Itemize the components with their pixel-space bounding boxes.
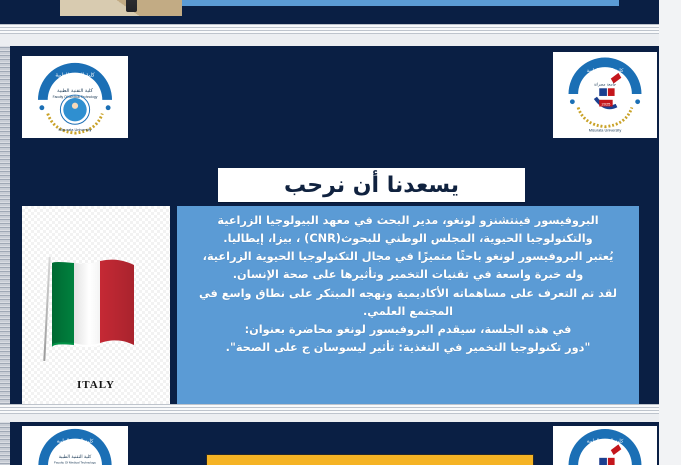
slide-left-edge-shadow — [0, 46, 10, 404]
slide-main[interactable]: كلية التقنية الطبية كلية التقنية الطبية … — [0, 46, 681, 404]
flag-graphic — [40, 249, 152, 365]
slide-bottom-left-edge-shadow — [0, 422, 10, 465]
svg-text:Misurata University: Misurata University — [59, 127, 92, 132]
svg-text:كلية التقنية الطبية: كلية التقنية الطبية — [57, 438, 94, 444]
body-line-1: البروفيسور فينتشنزو لونغو، مدير البحث في… — [187, 212, 629, 229]
svg-text:كلية التقنية الطبية: كلية التقنية الطبية — [57, 88, 93, 94]
body-line-3: يُعتبر البروفيسور لونغو باحثًا متميزًا ف… — [187, 248, 629, 265]
italy-flag-card: ITALY — [22, 206, 170, 404]
viewer-right-margin — [659, 0, 681, 465]
logo-faculty-medical-technology-bottom-left: كلية التقنية الطبية كلية التقنية الطبية … — [22, 426, 128, 465]
page-shadow-top — [0, 24, 681, 34]
slide-body-panel: البروفيسور فينتشنزو لونغو، مدير البحث في… — [177, 206, 639, 404]
svg-text:كلية التقنية الطبية: كلية التقنية الطبية — [587, 438, 624, 444]
svg-text:كلية التقنية الطبية: كلية التقنية الطبية — [55, 72, 95, 79]
slide-next-partial[interactable]: كلية التقنية الطبية كلية التقنية الطبية … — [0, 422, 681, 465]
slide-viewer[interactable]: كلية التقنية الطبية كلية التقنية الطبية … — [0, 0, 681, 465]
logo-faculty-medical-technology-left: كلية التقنية الطبية كلية التقنية الطبية … — [22, 56, 128, 138]
slide-navy-fill — [182, 6, 619, 24]
svg-text:2025: 2025 — [601, 102, 611, 107]
logo-bottom-left-graphic: كلية التقنية الطبية كلية التقنية الطبية … — [26, 427, 124, 465]
svg-text:Misurata University: Misurata University — [589, 128, 622, 132]
body-line-4: وله خبرة واسعة في تقنيات التخمير وتأثيره… — [187, 266, 629, 283]
page-shadow-bottom — [0, 404, 681, 414]
logo-left-graphic: كلية التقنية الطبية كلية التقنية الطبية … — [26, 59, 124, 135]
svg-text:كلية التقنية الطبية: كلية التقنية الطبية — [59, 454, 92, 460]
logo-right-graphic: كلية التقنية الطبية جامعة مصراتة 2025 Mi… — [557, 55, 653, 135]
slide-gold-title-box — [206, 454, 534, 465]
logo-faculty-medical-technology-bottom-right: كلية التقنية الطبية — [553, 426, 657, 465]
body-line-6: المجتمع العلمي. — [187, 303, 629, 320]
conference-photo-fragment — [60, 0, 182, 16]
slide-previous-partial[interactable] — [0, 0, 681, 24]
page-gap-2 — [0, 404, 681, 422]
body-line-5: لقد تم التعرف على مساهماته الأكاديمية ون… — [187, 285, 629, 302]
body-line-8: "دور تكنولوجيا التخمير في التغذية: تأثير… — [187, 339, 629, 356]
photo-person-figure — [126, 0, 137, 12]
body-line-7: في هذه الجلسة، سيقدم البروفيسور لونغو مح… — [187, 321, 629, 338]
photo-background — [60, 0, 182, 16]
page-gap-1 — [0, 24, 681, 46]
slide-title-box: يسعدنا أن نرحب — [218, 168, 525, 202]
svg-text:Faculty Of Medical Technology: Faculty Of Medical Technology — [54, 461, 96, 465]
flag-country-label: ITALY — [77, 379, 115, 391]
logo-bottom-right-graphic: كلية التقنية الطبية — [557, 427, 653, 465]
body-line-2: والتكنولوجيا الحيوية، المجلس الوطني للبح… — [187, 230, 629, 247]
slide-title: يسعدنا أن نرحب — [284, 173, 459, 198]
italy-flag-icon — [40, 249, 152, 365]
logo-faculty-medical-technology-right: كلية التقنية الطبية جامعة مصراتة 2025 Mi… — [553, 52, 657, 138]
